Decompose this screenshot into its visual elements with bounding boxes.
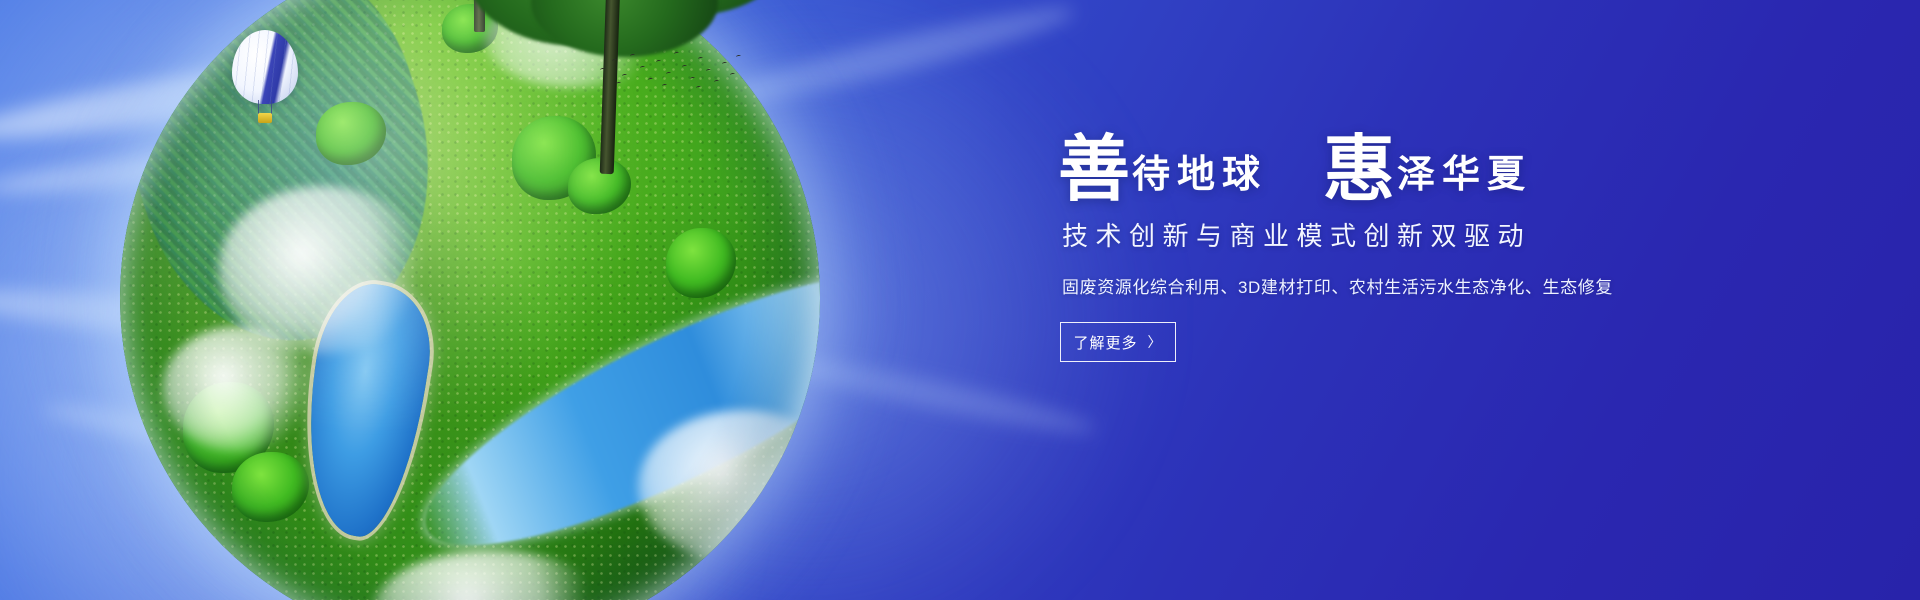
balloon-envelope bbox=[232, 30, 298, 104]
hero-content: 善 待地球 惠 泽华夏 技术创新与商业模式创新双驱动 固废资源化综合利用、3D建… bbox=[1058, 130, 1798, 362]
learn-more-label: 了解更多 bbox=[1073, 332, 1137, 353]
bird-flock-icon bbox=[596, 50, 746, 94]
hero-subtitle: 技术创新与商业模式创新双驱动 bbox=[1062, 216, 1798, 253]
hero-banner: 善 待地球 惠 泽华夏 技术创新与商业模式创新双驱动 固废资源化综合利用、3D建… bbox=[0, 0, 1920, 600]
headline-char-1: 善 bbox=[1058, 134, 1130, 206]
learn-more-button[interactable]: 了解更多 〉 bbox=[1060, 322, 1176, 362]
page-title: 善 待地球 惠 泽华夏 bbox=[1058, 130, 1798, 202]
hot-air-balloon-icon bbox=[232, 30, 298, 126]
balloon-basket bbox=[258, 113, 272, 123]
headline-rest-1: 待地球 bbox=[1132, 156, 1267, 202]
balloon-cords bbox=[258, 100, 272, 114]
hero-description: 固废资源化综合利用、3D建材打印、农村生活污水生态净化、生态修复 bbox=[1062, 273, 1798, 298]
headline-char-2: 惠 bbox=[1323, 134, 1395, 206]
headline-rest-2: 泽华夏 bbox=[1397, 156, 1532, 202]
chevron-right-icon: 〉 bbox=[1148, 335, 1163, 349]
